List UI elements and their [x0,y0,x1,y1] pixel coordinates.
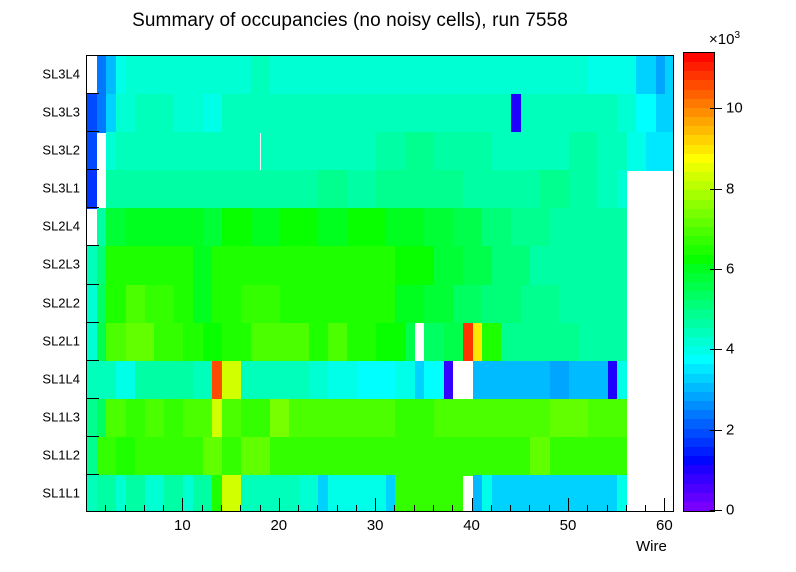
colorbar-band [684,217,714,227]
colorbar-band [684,318,714,328]
heatmap-cell [569,361,608,400]
heatmap-cell [203,437,222,476]
x-axis-minor-tick [491,505,492,512]
heatmap-cell [656,56,666,95]
heatmap-cell [357,285,396,324]
heatmap-cell [405,132,434,171]
colorbar-band [684,190,714,200]
x-axis-title: Wire [636,538,667,555]
heatmap-cell [318,475,328,512]
heatmap-cell [424,285,453,324]
heatmap-cell [309,56,328,95]
colorbar-band [684,135,714,145]
heatmap-cell [97,285,107,324]
heatmap-cell [608,246,627,285]
x-axis-minor-tick [433,505,434,512]
x-axis-minor-tick [626,505,627,512]
heatmap-cell [164,361,193,400]
heatmap-cell [97,208,107,247]
heatmap-cell [241,285,280,324]
heatmap-cell [174,437,203,476]
heatmap-cell [183,399,212,438]
heatmap-cell [511,361,550,400]
heatmap-cell [434,132,463,171]
heatmap-cell [193,246,212,285]
heatmap-cell [251,56,270,95]
colorbar-band [684,226,714,236]
heatmap-cell [203,208,222,247]
heatmap-cell [145,56,184,95]
heatmap-cell [453,437,492,476]
colorbar-band [684,236,714,246]
x-axis-tick-label: 60 [656,517,673,534]
colorbar-tick-label: 2 [726,421,734,438]
colorbar-tick [710,108,722,109]
heatmap-cell [318,399,357,438]
colorbar-band [684,62,714,72]
heatmap-plot-area[interactable] [86,55,674,512]
x-axis-minor-tick [549,505,550,512]
heatmap-cell [106,208,125,247]
heatmap-cell [203,94,222,133]
y-axis-label-sl3l3: SL3L3 [42,105,80,120]
heatmap-cell [97,437,116,476]
x-axis-minor-tick [394,505,395,512]
colorbar-band [684,117,714,127]
heatmap-cell [636,56,655,95]
colorbar-band [684,355,714,365]
colorbar-band [684,455,714,465]
heatmap-cell [299,475,318,512]
heatmap-cell [106,323,125,362]
colorbar-tick [710,430,722,431]
heatmap-cell [569,170,598,209]
heatmap-cell [154,437,173,476]
colorbar-band [684,172,714,182]
heatmap-cell [251,208,280,247]
heatmap-cell [135,437,154,476]
heatmap-cell [501,94,511,133]
colorbar-band [684,126,714,136]
heatmap-cell [501,323,540,362]
colorbar-band [684,254,714,264]
heatmap-cell [328,94,367,133]
heatmap-cell [550,94,589,133]
y-axis-label-sl3l2: SL3L2 [42,143,80,158]
heatmap-cell [550,56,589,95]
heatmap-cell [106,94,116,133]
heatmap-cell [135,246,164,285]
heatmap-cell [97,246,107,285]
heatmap-cell [183,323,202,362]
heatmap-cell [222,361,241,400]
heatmap-cell [473,399,512,438]
heatmap-cell [318,208,347,247]
heatmap-cell [145,285,174,324]
heatmap-cell [145,399,164,438]
heatmap-cell [569,132,598,171]
x-axis-minor-tick [587,505,588,512]
heatmap-cell [318,246,357,285]
heatmap-cell [328,361,357,400]
heatmap-cell [212,361,222,400]
heatmap-cell [482,285,521,324]
heatmap-cell [656,94,674,133]
heatmap-cell [550,208,589,247]
heatmap-cell [135,361,164,400]
heatmap-cell [347,170,376,209]
heatmap-cell [338,437,377,476]
y-axis-label-sl1l1: SL1L1 [42,485,80,500]
heatmap-cell [415,56,454,95]
y-axis-tick [86,93,99,94]
heatmap-cell [251,323,280,362]
heatmap-cell [241,399,270,438]
heatmap-cell [376,323,405,362]
heatmap-cell [116,437,135,476]
colorbar-band [684,410,714,420]
heatmap-cell [569,246,608,285]
heatmap-cell [540,170,569,209]
heatmap-cell [289,56,308,95]
y-axis-label-sl1l4: SL1L4 [42,371,80,386]
heatmap-cell [627,132,646,171]
colorbar-band [684,291,714,301]
heatmap-cell [463,132,492,171]
heatmap-cell [395,361,414,400]
colorbar-band [684,382,714,392]
heatmap-cell [280,170,319,209]
colorbar-tick-label: 8 [726,180,734,197]
heatmap-cell [97,323,107,362]
heatmap-cell [87,361,97,400]
colorbar-multiplier-text: ×10 [709,31,734,48]
x-axis-minor-tick [529,505,530,512]
x-axis-tick-label: 20 [270,517,287,534]
heatmap-cell [453,56,492,95]
heatmap-cell [357,246,396,285]
heatmap-cell [598,170,617,209]
heatmap-cell [501,170,540,209]
heatmap-cell [395,246,434,285]
heatmap-cell [87,246,97,285]
x-axis-minor-tick [240,505,241,512]
heatmap-cell [357,399,396,438]
x-axis-minor-tick [202,505,203,512]
root-canvas: Summary of occupancies (no noisy cells),… [0,0,796,572]
x-axis-minor-tick [414,505,415,512]
heatmap-cell [376,132,405,171]
heatmap-cell [424,323,443,362]
colorbar-band [684,309,714,319]
y-axis-tick [86,474,99,475]
heatmap-cell [87,475,97,512]
colorbar-band [684,144,714,154]
heatmap-cell [347,208,386,247]
heatmap-cell [299,437,338,476]
heatmap-cell [521,94,550,133]
heatmap-cell [386,56,415,95]
y-axis-tick [86,322,99,323]
heatmap-cell [87,285,97,324]
x-axis-minor-tick [221,505,222,512]
x-axis-minor-tick [452,505,453,512]
heatmap-cell [106,246,135,285]
heatmap-cell [222,437,241,476]
heatmap-cell [183,132,222,171]
heatmap-cell [492,132,531,171]
heatmap-cell [212,170,251,209]
heatmap-cell [453,285,482,324]
colorbar-band [684,346,714,356]
heatmap-cell [338,132,377,171]
colorbar-band [684,373,714,383]
x-axis-minor-tick [356,505,357,512]
heatmap-cell [164,246,193,285]
heatmap-cell [261,132,300,171]
colorbar-band [684,465,714,475]
heatmap-cell [126,475,145,512]
colorbar-tick-label: 4 [726,341,734,358]
heatmap-cells [87,56,673,511]
heatmap-cell [251,170,280,209]
heatmap-cell [405,170,434,209]
heatmap-cell [126,208,145,247]
heatmap-cell [482,208,511,247]
heatmap-cell [444,323,463,362]
heatmap-cell [328,56,357,95]
heatmap-cell [270,56,289,95]
heatmap-cell [357,361,396,400]
heatmap-cell [87,170,97,209]
heatmap-cell [212,399,222,438]
heatmap-cell [299,132,338,171]
y-axis-labels: SL3L4SL3L3SL3L2SL3L1SL2L4SL2L3SL2L2SL2L1… [0,0,80,572]
x-axis-major-tick [182,498,183,512]
heatmap-cell [116,361,135,400]
x-axis-tick-label: 50 [560,517,577,534]
heatmap-cell [97,56,107,95]
heatmap-cell [164,399,183,438]
heatmap-cell [135,170,174,209]
colorbar [683,52,715,512]
heatmap-cell [222,56,251,95]
colorbar-tick-label: 6 [726,260,734,277]
heatmap-cell [318,170,347,209]
colorbar-exponent-label: ×103 [709,30,740,48]
x-axis-major-tick [472,498,473,512]
chart-title: Summary of occupancies (no noisy cells),… [0,10,700,32]
heatmap-cell [463,170,502,209]
heatmap-cell [540,323,579,362]
x-axis-minor-tick [260,505,261,512]
colorbar-band [684,391,714,401]
heatmap-cell [665,56,674,95]
heatmap-cell [87,323,97,362]
heatmap-cell [617,56,636,95]
heatmap-cell [511,399,550,438]
heatmap-cell [241,246,280,285]
heatmap-cell [617,94,636,133]
heatmap-cell [183,475,193,512]
heatmap-cell [106,399,125,438]
colorbar-tick [710,189,722,190]
heatmap-cell [174,170,213,209]
heatmap-cell [289,94,328,133]
heatmap-cell [280,285,319,324]
heatmap-cell [97,399,107,438]
y-axis-label-sl2l3: SL2L3 [42,257,80,272]
colorbar-band [684,492,714,502]
y-axis-label-sl1l3: SL1L3 [42,409,80,424]
heatmap-cell [222,475,241,512]
heatmap-cell [280,323,309,362]
heatmap-cell [492,56,521,95]
x-axis-major-tick [568,498,569,512]
heatmap-cell [473,475,483,512]
x-axis-major-tick [279,498,280,512]
heatmap-cell [617,361,627,400]
heatmap-cell [106,56,116,95]
heatmap-cell [511,208,550,247]
heatmap-cell [434,94,473,133]
heatmap-cell [482,323,501,362]
heatmap-cell [145,132,184,171]
x-axis-minor-tick [298,505,299,512]
heatmap-cell [424,361,443,400]
colorbar-band [684,162,714,172]
colorbar-band [684,437,714,447]
heatmap-cell [97,94,107,133]
heatmap-cell [106,170,135,209]
colorbar-band [684,199,714,209]
heatmap-cell [87,132,97,171]
x-axis-minor-tick [317,505,318,512]
heatmap-cell [521,285,560,324]
heatmap-cell [309,361,328,400]
heatmap-cell [126,323,155,362]
x-axis-minor-tick [105,505,106,512]
colorbar-band [684,364,714,374]
colorbar-band [684,208,714,218]
heatmap-cell [289,399,318,438]
heatmap-cell [357,56,386,95]
y-axis-tick [86,436,99,437]
heatmap-cell [588,208,627,247]
heatmap-cell [550,437,589,476]
heatmap-cell [87,437,97,476]
heatmap-cell [463,323,473,362]
heatmap-cell [126,56,145,95]
heatmap-cell [328,323,347,362]
colorbar-band [684,80,714,90]
heatmap-cell [492,437,531,476]
heatmap-cell [424,208,453,247]
colorbar-tick [710,349,722,350]
heatmap-cell [87,399,97,438]
x-axis-tick-label: 40 [463,517,480,534]
heatmap-cell [145,208,174,247]
heatmap-cell [212,246,241,285]
heatmap-cell [550,399,589,438]
y-axis-label-sl3l1: SL3L1 [42,181,80,196]
heatmap-cell [588,94,617,133]
x-axis-major-tick [375,498,376,512]
heatmap-cell [395,399,434,438]
heatmap-cell [270,437,299,476]
colorbar-band [684,272,714,282]
colorbar-band [684,98,714,108]
colorbar-band [684,245,714,255]
heatmap-cell [636,94,655,133]
heatmap-cell [530,437,549,476]
heatmap-cell [473,94,502,133]
y-axis-tick [86,284,99,285]
heatmap-cell [386,208,425,247]
colorbar-band [684,446,714,456]
y-axis-tick [86,398,99,399]
x-axis-minor-tick [163,505,164,512]
colorbar-band [684,300,714,310]
heatmap-cell [222,323,251,362]
heatmap-cell [164,475,183,512]
heatmap-cell [241,475,299,512]
x-axis-minor-tick [337,505,338,512]
heatmap-cell [598,132,627,171]
x-axis-minor-tick [645,505,646,512]
heatmap-cell [550,361,569,400]
heatmap-cell [251,94,290,133]
heatmap-cell [212,285,241,324]
heatmap-cell [116,94,135,133]
x-axis-tick-label: 30 [367,517,384,534]
y-axis-label-sl2l1: SL2L1 [42,333,80,348]
y-axis-tick [86,169,99,170]
colorbar-band [684,327,714,337]
heatmap-cell [280,246,319,285]
heatmap-cell [87,94,97,133]
heatmap-cell [126,285,145,324]
heatmap-cell [434,246,463,285]
heatmap-cell [530,246,569,285]
heatmap-cell [405,323,415,362]
heatmap-cell [222,94,251,133]
heatmap-cell [193,361,212,400]
x-axis-minor-tick [125,505,126,512]
heatmap-cell [434,399,473,438]
colorbar-band [684,71,714,81]
heatmap-cell [280,208,319,247]
heatmap-cell [145,475,164,512]
heatmap-cell [598,285,627,324]
heatmap-cell [588,56,617,95]
colorbar-tick-label: 10 [726,100,743,117]
colorbar-band [684,401,714,411]
heatmap-cell [318,285,357,324]
heatmap-cell [222,132,261,171]
y-axis-tick [86,131,99,132]
heatmap-cell [106,285,125,324]
x-axis-minor-tick [607,505,608,512]
colorbar-band [684,89,714,99]
colorbar-band [684,281,714,291]
heatmap-cell [116,56,126,95]
y-axis-tick [86,245,99,246]
heatmap-cell [126,399,145,438]
heatmap-cell [559,285,598,324]
colorbar-tick [710,269,722,270]
heatmap-cell [367,94,406,133]
